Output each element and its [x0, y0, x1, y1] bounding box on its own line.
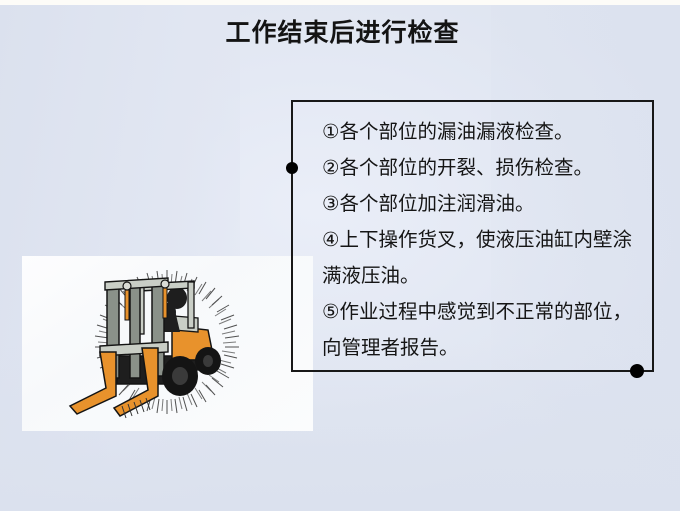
page-title: 工作结束后进行检查 [0, 17, 685, 49]
slide-bottom-edge [0, 511, 685, 515]
slide-canvas: 工作结束后进行检查 [0, 0, 685, 515]
callout-marker-left-dot [286, 162, 298, 174]
callout-border-bottom [291, 370, 654, 372]
checklist-item-2: ②各个部位的开裂、损伤检查。 [322, 150, 647, 186]
checklist-item-4: ④上下操作货叉，使液压油缸内壁涂满液压油。 [322, 222, 647, 294]
checklist-callout: ①各个部位的漏油漏液检查。 ②各个部位的开裂、损伤检查。 ③各个部位加注润滑油。… [291, 100, 654, 372]
checklist-text: ①各个部位的漏油漏液检查。 ②各个部位的开裂、损伤检查。 ③各个部位加注润滑油。… [322, 114, 647, 366]
callout-border-top [291, 100, 654, 102]
checklist-item-1: ①各个部位的漏油漏液检查。 [322, 114, 647, 150]
callout-marker-bottom-right-dot [630, 364, 644, 378]
callout-border-left [291, 100, 293, 372]
slide-top-edge [0, 0, 685, 5]
forklift-illustration [22, 256, 313, 431]
forklift-photo [22, 256, 313, 431]
callout-border-right [652, 100, 654, 372]
checklist-item-5: ⑤作业过程中感觉到不正常的部位，向管理者报告。 [322, 294, 647, 366]
slide-right-edge [680, 0, 685, 515]
checklist-item-3: ③各个部位加注润滑油。 [322, 186, 647, 222]
forklift-body [70, 278, 221, 418]
